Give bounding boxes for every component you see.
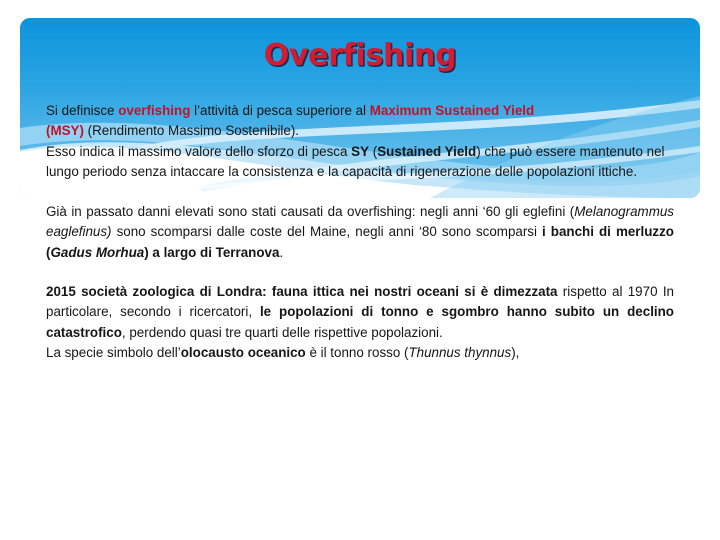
definizione-line-1: Si definisce overfishing l’attività di p… bbox=[46, 101, 674, 121]
paragraph-spacer bbox=[46, 263, 674, 282]
text-run: l’attività di pesca superiore al bbox=[190, 103, 369, 118]
keyword-maximum-sustained-yield: Maximum Sustained Yield bbox=[370, 103, 534, 118]
paragraph-storico: Già in passato danni elevati sono stati … bbox=[46, 202, 674, 263]
text-run: (Rendimento Massimo Sostenibile). bbox=[84, 123, 299, 138]
species-thunnus-thynnus: Thunnus thynnus bbox=[408, 345, 511, 360]
paragraph-studio-2015: 2015 società zoologica di Londra: fauna … bbox=[46, 282, 674, 343]
keyword-msy: (MSY) bbox=[46, 123, 84, 138]
text-run: Si definisce bbox=[46, 103, 118, 118]
text-run-bold: ) a largo di Terranova bbox=[144, 245, 279, 260]
paragraph-spacer bbox=[46, 182, 674, 202]
text-run: , perdendo quasi tre quarti delle rispet… bbox=[122, 325, 443, 340]
text-run: . bbox=[279, 245, 283, 260]
slide-title: Overfishing bbox=[0, 38, 720, 73]
keyword-sustained-yield: Sustained Yield bbox=[377, 144, 476, 159]
text-run: La specie simbolo dell’ bbox=[46, 345, 181, 360]
highlight-zsl-2015: 2015 società zoologica di Londra: fauna … bbox=[46, 284, 558, 299]
text-run: sono scomparsi dalle coste del Maine, ne… bbox=[112, 224, 543, 239]
species-gadus-morhua: Gadus Morhua bbox=[50, 245, 144, 260]
slide-body: Si definisce overfishing l’attività di p… bbox=[46, 101, 674, 363]
definizione-line-2: (MSY) (Rendimento Massimo Sostenibile). bbox=[46, 121, 674, 141]
paragraph-tonno-rosso: La specie simbolo dell’olocausto oceanic… bbox=[46, 343, 674, 363]
text-run: ), bbox=[511, 345, 519, 360]
text-run: Già in passato danni elevati sono stati … bbox=[46, 204, 574, 219]
highlight-olocausto-oceanico: olocausto oceanico bbox=[181, 345, 306, 360]
text-run: Esso indica il massimo valore dello sfor… bbox=[46, 144, 351, 159]
slide-canvas: Overfishing Si definisce overfishing l’a… bbox=[0, 0, 720, 540]
keyword-overfishing: overfishing bbox=[118, 103, 190, 118]
keyword-sy: SY bbox=[351, 144, 369, 159]
text-run: è il tonno rosso ( bbox=[306, 345, 409, 360]
text-run: ( bbox=[369, 144, 377, 159]
definizione-line-3: Esso indica il massimo valore dello sfor… bbox=[46, 142, 674, 183]
paragraph-definizione: Si definisce overfishing l’attività di p… bbox=[46, 101, 674, 182]
